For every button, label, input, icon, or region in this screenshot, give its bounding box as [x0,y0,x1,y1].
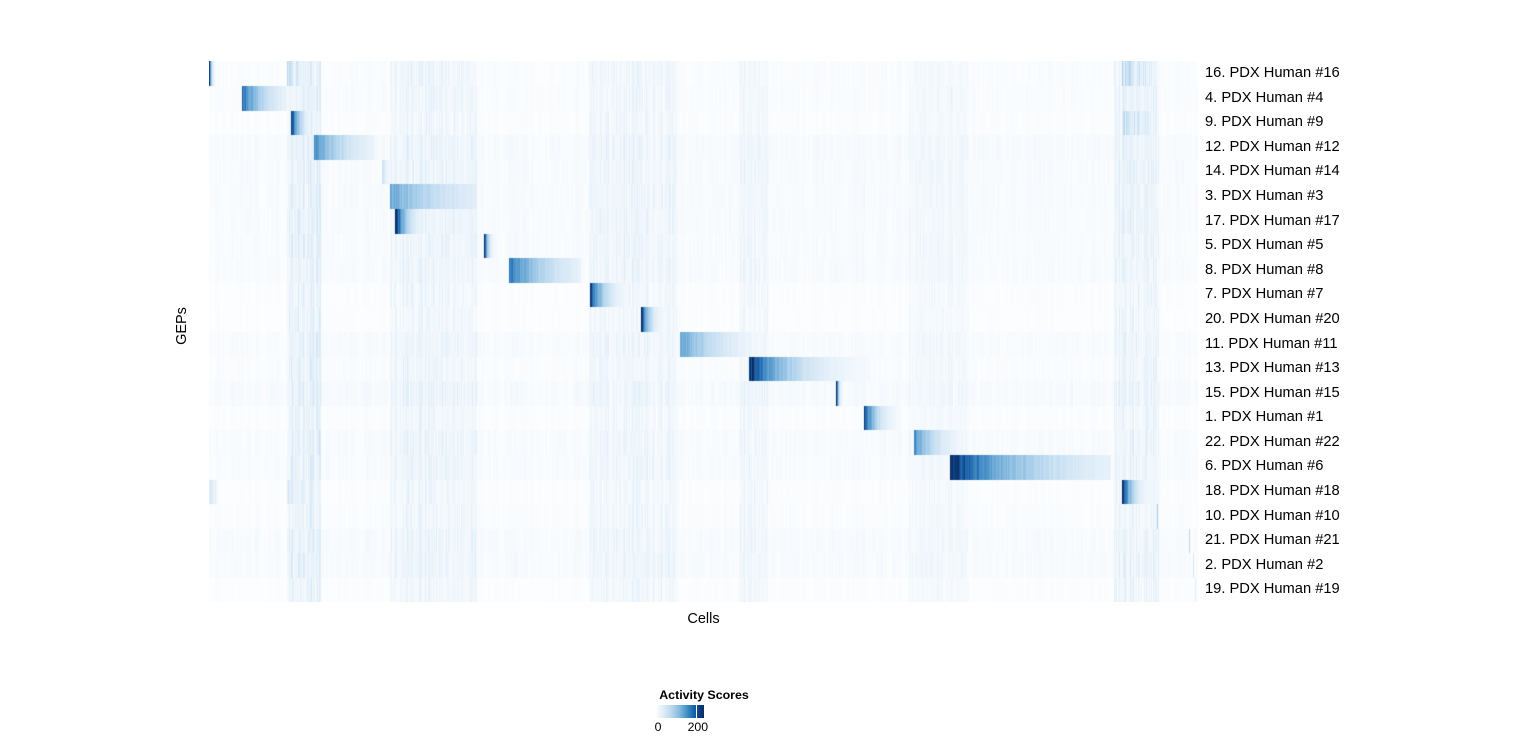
heatmap-canvas [209,61,1198,602]
colorbar-tick-label: 200 [688,720,709,734]
row-label: 8. PDX Human #8 [1205,258,1323,283]
row-label: 11. PDX Human #11 [1205,332,1338,357]
colorbar-tick-mark [696,703,697,720]
row-label: 19. PDX Human #19 [1205,577,1340,602]
row-label: 9. PDX Human #9 [1205,110,1323,135]
row-label: 16. PDX Human #16 [1205,61,1340,86]
row-label: 21. PDX Human #21 [1205,528,1340,553]
row-label: 5. PDX Human #5 [1205,233,1323,258]
row-label-list: 16. PDX Human #164. PDX Human #49. PDX H… [1205,61,1525,602]
row-label: 20. PDX Human #20 [1205,307,1340,332]
row-label: 15. PDX Human #15 [1205,381,1340,406]
heatmap-plot-area [209,61,1198,602]
row-label: 18. PDX Human #18 [1205,479,1340,504]
row-label: 17. PDX Human #17 [1205,209,1340,234]
row-label: 1. PDX Human #1 [1205,405,1323,430]
row-label: 3. PDX Human #3 [1205,184,1323,209]
row-label: 22. PDX Human #22 [1205,430,1340,455]
row-label: 4. PDX Human #4 [1205,86,1323,111]
row-label: 6. PDX Human #6 [1205,454,1323,479]
x-axis-label: Cells [209,611,1198,627]
row-label: 12. PDX Human #12 [1205,135,1340,160]
row-label: 10. PDX Human #10 [1205,504,1340,529]
colorbar-title: Activity Scores [596,688,812,702]
colorbar-legend: Activity Scores 0200 [596,688,812,738]
heatmap-figure: GEPs Cells 16. PDX Human #164. PDX Human… [0,0,1540,743]
row-label: 7. PDX Human #7 [1205,282,1323,307]
y-axis-label: GEPs [152,315,212,337]
row-label: 13. PDX Human #13 [1205,356,1340,381]
row-label: 14. PDX Human #14 [1205,159,1340,184]
colorbar-tick-label: 0 [655,720,662,734]
row-label: 2. PDX Human #2 [1205,553,1323,578]
